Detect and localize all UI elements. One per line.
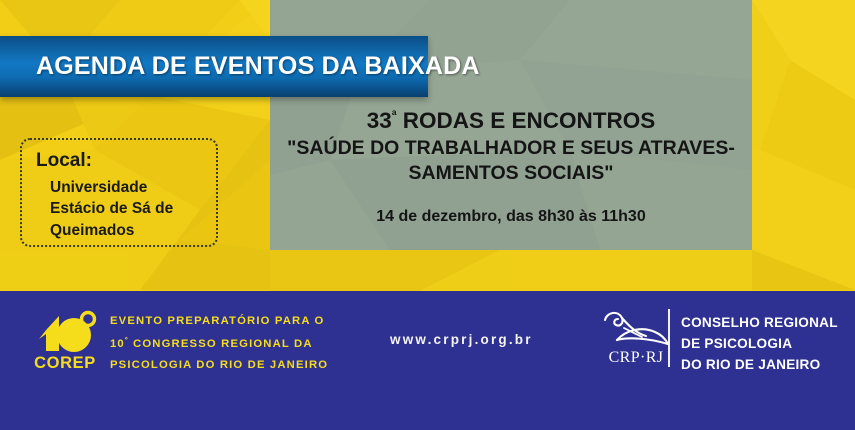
local-label: Local: <box>36 150 216 172</box>
crp-rj-divider <box>668 309 670 367</box>
crp-rj-name-line: CONSELHO REGIONAL <box>681 312 838 333</box>
crp-rj-name-line: DO RIO DE JANEIRO <box>681 354 838 375</box>
local-info-box: Local: Universidade Estácio de Sá de Que… <box>20 138 218 247</box>
event-datetime: 14 de dezembro, das 8h30 às 11h30 <box>272 208 750 226</box>
event-subtitle-line: "SAÚDE DO TRABALHADOR E SEUS ATRAVES- <box>272 136 750 161</box>
crp-rj-name-line: DE PSICOLOGIA <box>681 333 838 354</box>
event-subtitle: "SAÚDE DO TRABALHADOR E SEUS ATRAVES- SA… <box>272 136 750 186</box>
svg-text:CRP·RJ: CRP·RJ <box>609 349 664 366</box>
event-subtitle-line: SAMENTOS SOCIAIS" <box>272 161 750 186</box>
corep-logo-icon: COREP <box>26 306 104 372</box>
event-title: 33ª RODAS E ENCONTROS <box>272 108 750 133</box>
event-title-number: 33 <box>367 108 392 133</box>
corep-tagline: EVENTO PREPARATÓRIO PARA O 10º CONGRESSO… <box>110 311 328 377</box>
svg-text:COREP: COREP <box>34 354 96 372</box>
crp-rj-name: CONSELHO REGIONAL DE PSICOLOGIA DO RIO D… <box>681 312 838 376</box>
corep-tagline-line: EVENTO PREPARATÓRIO PARA O <box>110 311 328 333</box>
agenda-banner-title: AGENDA DE EVENTOS DA BAIXADA <box>36 52 480 81</box>
corep-tagline-line: 10º CONGRESSO REGIONAL DA <box>110 333 328 355</box>
event-details: 33ª RODAS E ENCONTROS "SAÚDE DO TRABALHA… <box>272 108 750 226</box>
event-poster: AGENDA DE EVENTOS DA BAIXADA Local: Univ… <box>0 0 855 430</box>
local-address-line: Universidade <box>50 177 216 198</box>
local-address-line: Estácio de Sá de <box>50 198 216 219</box>
corep-congress-rest: CONGRESSO REGIONAL DA <box>129 337 313 349</box>
website-url[interactable]: www.crprj.org.br <box>390 332 533 347</box>
event-title-rest: RODAS E ENCONTROS <box>397 108 656 133</box>
local-address: Universidade Estácio de Sá de Queimados <box>50 177 216 241</box>
corep-congress-number: 10 <box>110 337 125 349</box>
local-address-line: Queimados <box>50 220 216 241</box>
corep-logo: COREP <box>26 306 104 372</box>
agenda-banner: AGENDA DE EVENTOS DA BAIXADA <box>0 36 428 97</box>
corep-tagline-line: PSICOLOGIA DO RIO DE JANEIRO <box>110 355 328 377</box>
